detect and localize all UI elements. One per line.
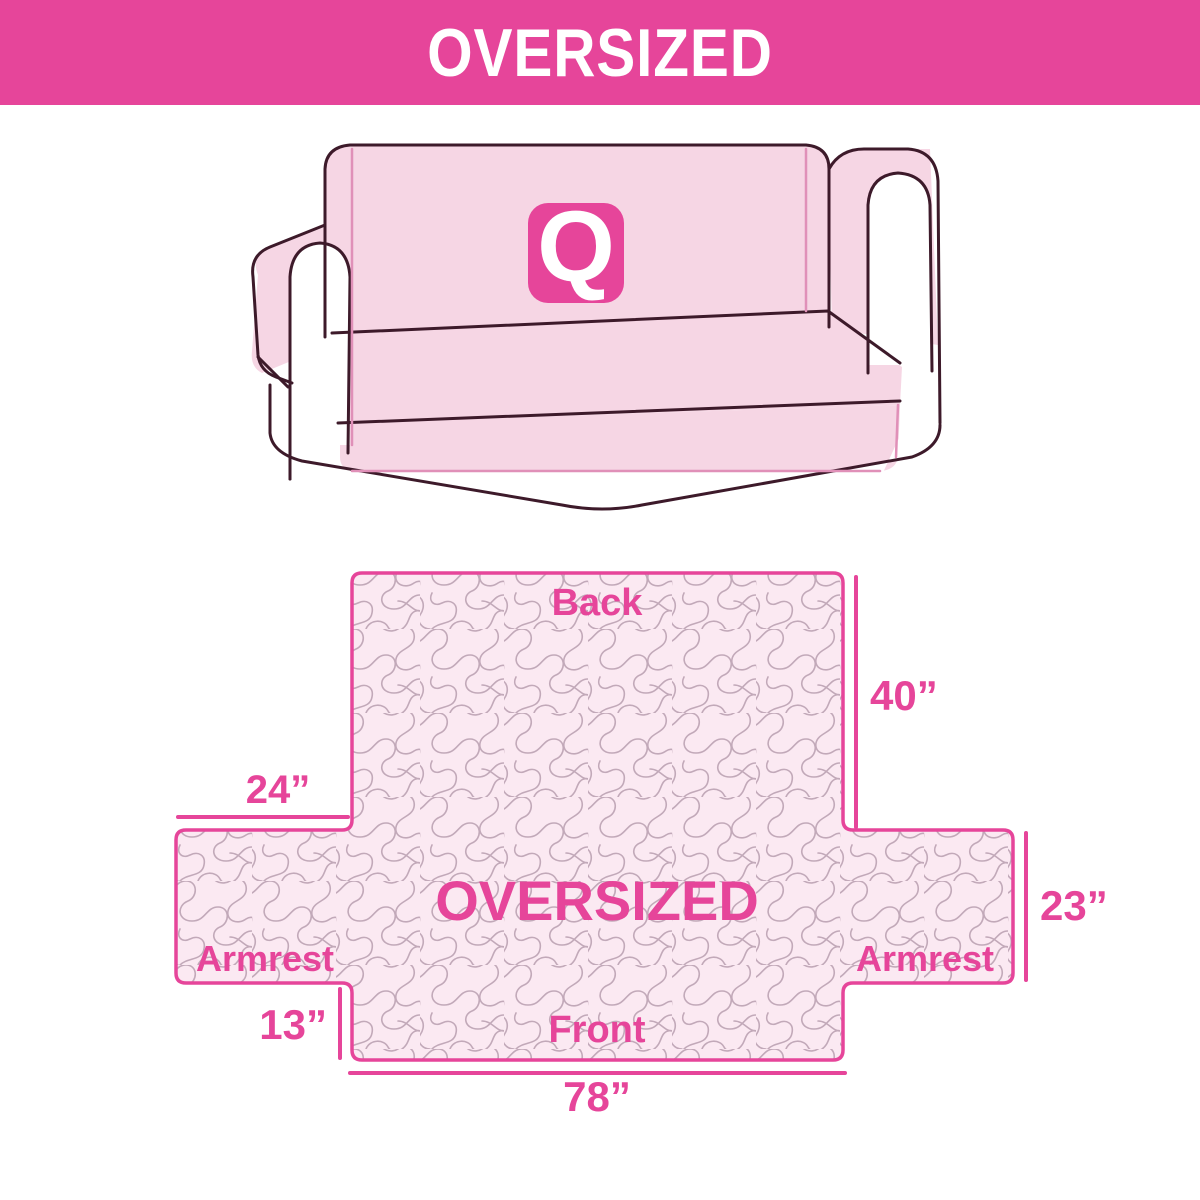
slipcover-layout: Back Armrest Armrest Front OVERSIZED 24”… xyxy=(176,573,1108,1120)
panel-label-front: Front xyxy=(548,1009,645,1051)
panel-label-left-armrest: Armrest xyxy=(196,938,334,979)
header-banner: OVERSIZED xyxy=(0,0,1200,105)
dimension-back-depth: 24” xyxy=(178,768,348,817)
panel-label-back: Back xyxy=(552,582,644,624)
sofa-illustration: Q xyxy=(0,105,1200,545)
brand-logo: Q xyxy=(528,191,624,303)
dimension-label-13: 13” xyxy=(259,1001,327,1048)
dimension-diagram: Back Armrest Armrest Front OVERSIZED 24”… xyxy=(0,545,1200,1200)
page-title: OVERSIZED xyxy=(427,19,773,87)
dimension-total-width: 78” xyxy=(350,1073,845,1120)
dimension-label-78: 78” xyxy=(563,1073,631,1120)
dimension-armrest-height: 23” xyxy=(1026,833,1108,980)
logo-letter: Q xyxy=(537,191,615,303)
sofa-seat-panel xyxy=(332,310,902,423)
diagram-center-label: OVERSIZED xyxy=(435,869,759,932)
sofa-drawing: Q xyxy=(252,145,940,509)
dimension-label-23: 23” xyxy=(1040,882,1108,929)
sofa-right-arm-roll xyxy=(868,173,930,365)
dimension-front-drop: 13” xyxy=(259,989,340,1058)
dimension-back-height: 40” xyxy=(856,577,938,827)
dimension-label-24: 24” xyxy=(246,768,311,812)
dimension-label-40: 40” xyxy=(870,672,938,719)
sofa-left-arm-roll xyxy=(290,243,350,445)
panel-label-right-armrest: Armrest xyxy=(856,938,994,979)
